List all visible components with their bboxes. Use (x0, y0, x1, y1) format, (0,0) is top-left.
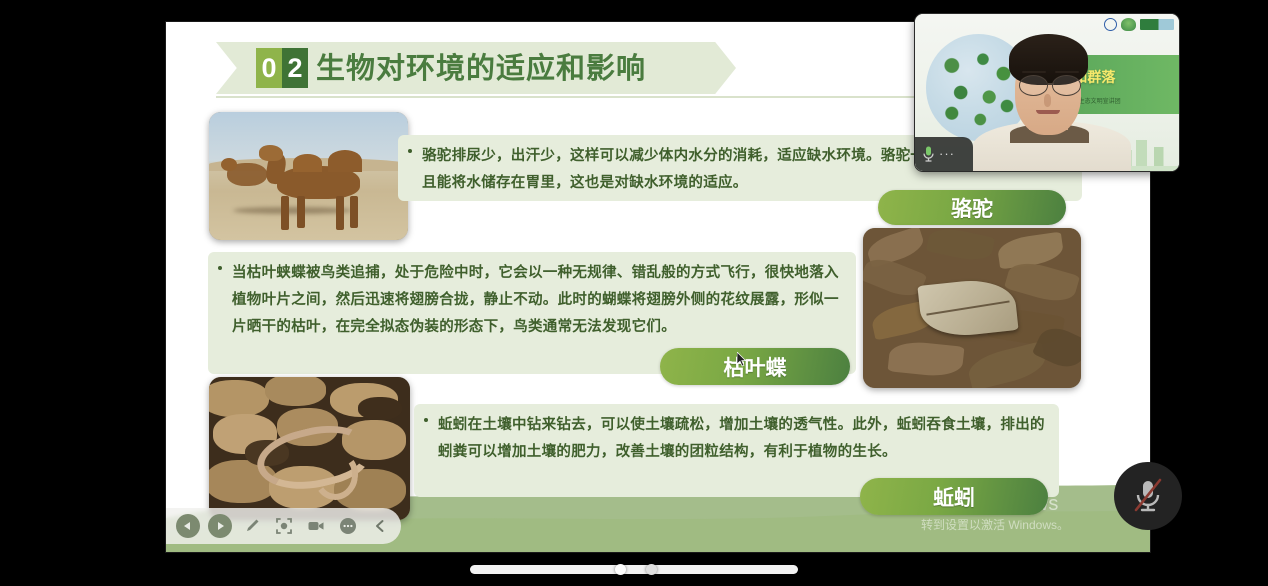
more-options-button[interactable] (336, 514, 360, 538)
mute-microphone-button[interactable] (1114, 462, 1182, 530)
presenter-glasses-bridge (1048, 83, 1054, 85)
page-title: 生物对环境的适应和影响 (316, 46, 646, 90)
butterfly-text: 当枯叶蛱蝶被鸟类追捕，处于危险中时，它会以一种无规律、错乱般的方式飞行，很快地落… (218, 260, 844, 341)
butterfly-label-badge: 枯叶蝶 (660, 348, 850, 385)
slide-toolbar[interactable] (166, 508, 401, 544)
bullet-icon (218, 266, 222, 270)
record-video-button[interactable] (304, 514, 328, 538)
triangle-left-icon (183, 521, 193, 531)
mic-on-icon (922, 145, 935, 163)
worm-photo-content (209, 377, 410, 520)
webcam-more-menu[interactable]: ··· (939, 149, 955, 159)
ellipsis-icon (339, 517, 357, 535)
webcam-video-overlay[interactable]: 和群落 生态文明宣讲团 ··· (915, 14, 1179, 171)
bottom-scrollbar[interactable] (470, 565, 798, 574)
presenter-nose (1044, 94, 1052, 107)
screen: 0 2 生物对环境的适应和影响 骆驼排尿少，出汗少，这样可以减少体内 (0, 0, 1268, 586)
presenter-eyebrow-left (1022, 71, 1046, 73)
dead-leaf-butterfly-photo (863, 228, 1081, 388)
section-number-digit-second: 2 (282, 48, 308, 88)
pen-icon (243, 517, 261, 535)
section-title-banner: 0 2 生物对环境的适应和影响 (216, 42, 736, 94)
earthworm-text: 蚯蚓在土壤中钻来钻去，可以使土壤疏松，增加土壤的透气性。此外，蚯蚓吞食土壤，排出… (424, 412, 1047, 466)
camera-icon (275, 517, 293, 535)
bullet-icon (424, 418, 428, 422)
previous-slide-button[interactable] (176, 514, 200, 538)
next-slide-button[interactable] (208, 514, 232, 538)
section-number: 0 2 (256, 48, 308, 88)
annotate-pen-button[interactable] (240, 514, 264, 538)
presenter-glasses-left (1019, 75, 1048, 95)
section-number-digit-first: 0 (256, 48, 282, 88)
screenshot-button[interactable] (272, 514, 296, 538)
triangle-right-icon (215, 521, 225, 531)
earthworm-photo (209, 377, 410, 520)
earthworm-label-badge: 蚯蚓 (860, 478, 1048, 515)
organization-wordmark-icon (1140, 19, 1174, 30)
watermark-line-2: 转到设置以激活 Windows。 (880, 516, 1110, 534)
leaf-photo-content (863, 228, 1081, 388)
scrollbar-handle-primary[interactable] (615, 564, 626, 575)
webcam-mic-indicator[interactable]: ··· (915, 137, 973, 171)
presenter-eyebrow-right (1055, 71, 1079, 73)
camel-label-badge: 骆驼 (878, 190, 1066, 225)
collapse-toolbar-button[interactable] (368, 514, 392, 538)
presenter-mouth (1036, 110, 1060, 114)
institution-logos (1104, 18, 1174, 31)
background-subtitle-text: 生态文明宣讲团 (1079, 96, 1121, 105)
camel-photo (209, 112, 408, 240)
chevron-left-icon (372, 518, 388, 534)
scrollbar-handle-secondary[interactable] (646, 564, 657, 575)
presenter-glasses-right (1052, 75, 1081, 95)
green-tree-logo-icon (1121, 18, 1136, 31)
video-camera-icon (307, 517, 325, 535)
university-seal-icon (1104, 18, 1117, 31)
mic-muted-icon (1131, 476, 1165, 516)
bullet-icon (408, 149, 412, 153)
camel-photo-content (209, 112, 408, 240)
